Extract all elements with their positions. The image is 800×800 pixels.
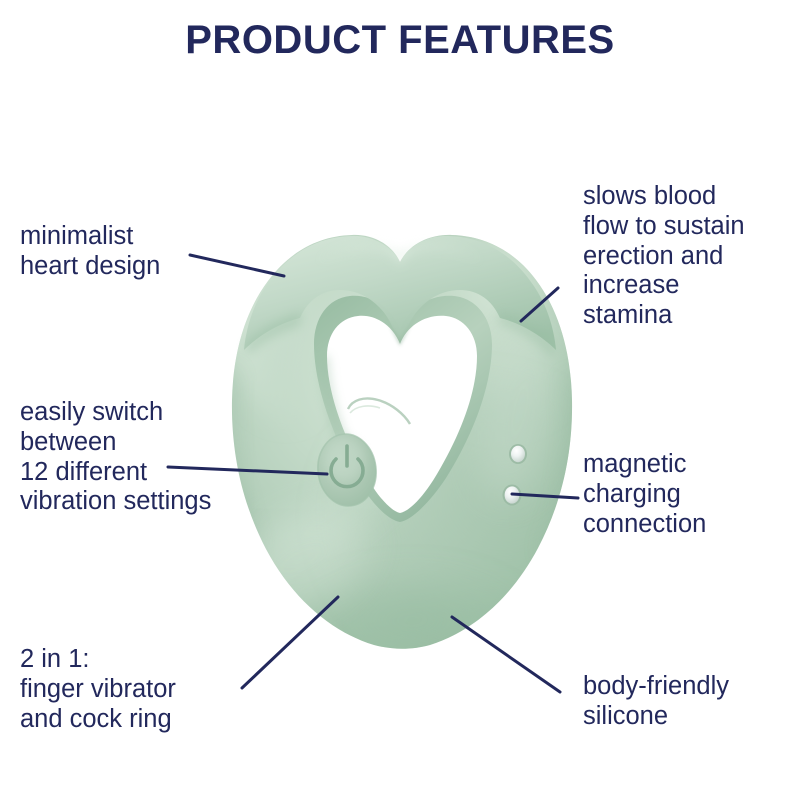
callout-body-friendly-silicone: body-friendly silicone [583, 672, 729, 732]
charging-pin-lower [503, 485, 522, 506]
product-features-infographic: PRODUCT FEATURES minimalist heart design… [0, 0, 800, 800]
callout-slows-blood-flow: slows blood flow to sustain erection and… [583, 182, 745, 331]
charging-pin-upper [509, 444, 527, 464]
callout-magnetic-charging-connection: magnetic charging connection [583, 450, 706, 539]
callout-two-in-one-finger-vibrator-cock-ring: 2 in 1: finger vibrator and cock ring [20, 645, 176, 734]
callout-easily-switch-vibration-settings: easily switch between 12 different vibra… [20, 398, 211, 517]
callout-minimalist-heart-design: minimalist heart design [20, 222, 160, 282]
page-title: PRODUCT FEATURES [0, 18, 800, 63]
